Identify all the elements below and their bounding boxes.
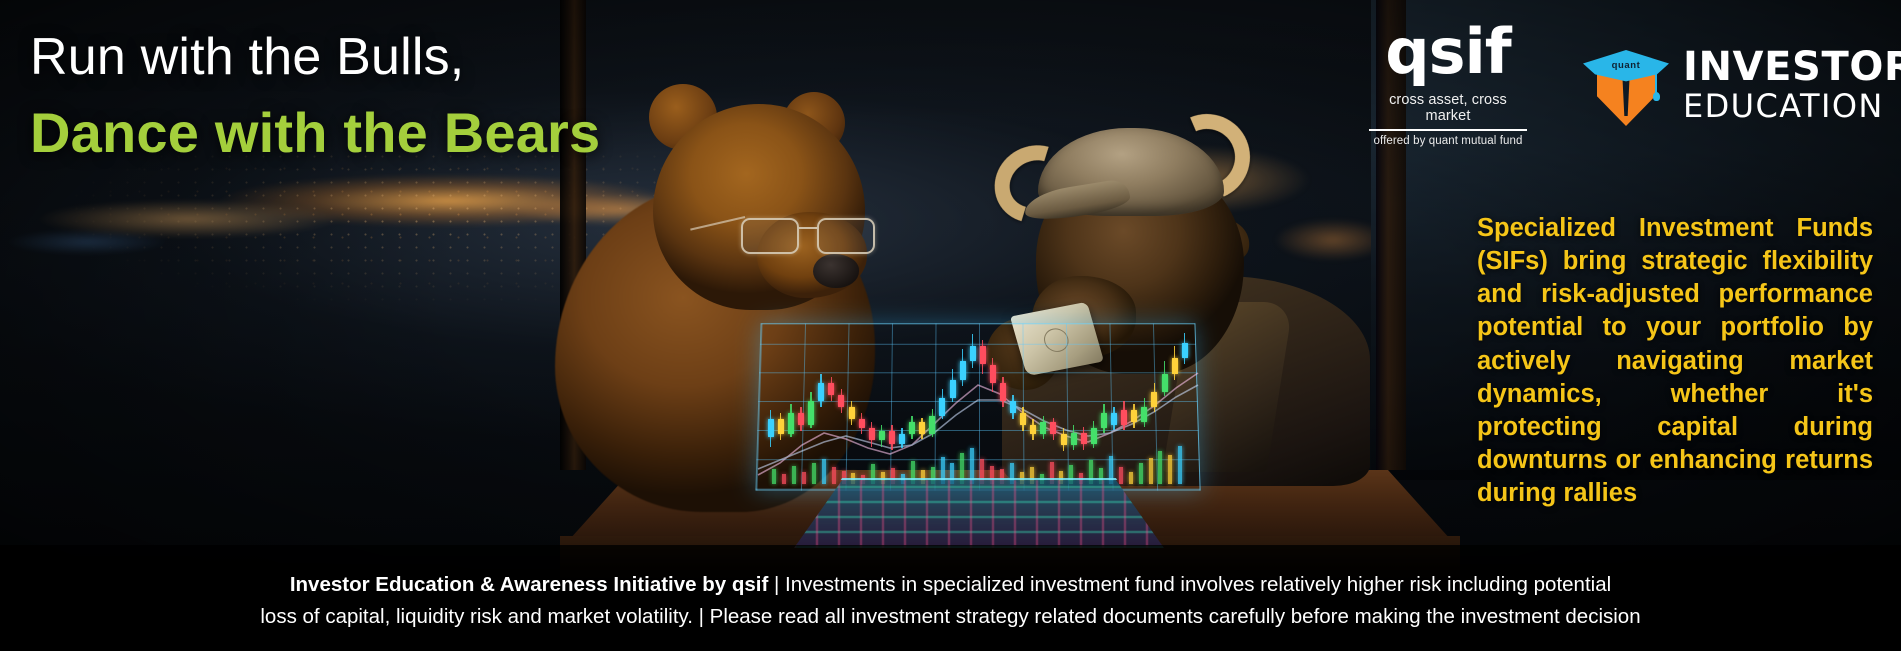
holographic-chart (748, 322, 1208, 542)
candle-body (919, 422, 925, 434)
chart-base-plate-edge (794, 478, 1164, 548)
candle-body (929, 416, 935, 434)
candle-body (939, 398, 945, 416)
candle-body (849, 407, 855, 419)
eyeglasses-bridge (799, 227, 817, 229)
investor-education-wordmark: INVESTOR EDUCATION (1683, 47, 1901, 122)
disclaimer-line-2: loss of capital, liquidity risk and mark… (260, 601, 1640, 633)
logo-zone: qsif cross asset, cross market offered b… (1355, 18, 1885, 150)
candle-body (970, 346, 976, 361)
volume-bar (822, 459, 826, 484)
qsif-divider-rule (1369, 129, 1527, 131)
candle-body (808, 401, 814, 425)
candle-body (1010, 401, 1016, 413)
candle-body (1020, 413, 1026, 425)
graduation-cap-pen-icon: quant (1583, 36, 1669, 132)
candle-body (909, 422, 915, 434)
volume-bar (1149, 458, 1153, 484)
eyeglasses-lens-left (741, 218, 799, 254)
candle-body (990, 365, 996, 383)
education-text: EDUCATION (1683, 90, 1901, 122)
candle-body (1000, 383, 1006, 401)
volume-bar (812, 463, 816, 484)
headline-line-bulls: Run with the Bulls, (30, 28, 600, 86)
candle-body (1151, 392, 1157, 407)
volume-bar (1168, 455, 1172, 484)
volume-bar (802, 472, 806, 484)
candle-body (869, 428, 875, 440)
candle-body (1101, 413, 1107, 428)
volume-bar (1158, 451, 1162, 484)
volume-bar (1129, 472, 1133, 484)
candle-body (980, 346, 986, 364)
candle-body (1121, 410, 1127, 425)
volume-bar (792, 466, 796, 484)
candle-body (960, 361, 966, 379)
qsif-offered-by: offered by quant mutual fund (1369, 135, 1527, 147)
candle-body (899, 434, 905, 443)
candle-body (798, 413, 804, 425)
candle-body (889, 431, 895, 443)
candle-body (1162, 374, 1168, 392)
disclaimer-line-1-rest: | Investments in specialized investment … (768, 573, 1611, 596)
candle-body (778, 419, 784, 434)
bear-nose (813, 254, 859, 288)
investor-text: INVESTOR (1683, 47, 1901, 87)
candle-body (1141, 407, 1147, 422)
sif-description-copy: Specialized Investment Funds (SIFs) brin… (1477, 212, 1873, 510)
investor-education-logo[interactable]: quant INVESTOR EDUCATION (1583, 36, 1901, 132)
qsif-tagline: cross asset, cross market (1369, 92, 1527, 124)
promotional-banner: Run with the Bulls, Dance with the Bears (0, 0, 1901, 651)
qsif-logo[interactable]: qsif cross asset, cross market offered b… (1369, 21, 1527, 147)
candle-body (768, 419, 774, 437)
eyeglasses-icon (741, 214, 901, 258)
candle-body (1182, 343, 1188, 358)
graduation-cap-tassel-icon (1655, 70, 1657, 94)
candle-body (859, 419, 865, 428)
candle-body (1050, 422, 1056, 434)
candle-body (788, 413, 794, 434)
volume-bar (782, 474, 786, 484)
candle-body (1172, 358, 1178, 373)
headline: Run with the Bulls, Dance with the Bears (30, 28, 600, 165)
candle-body (1081, 433, 1087, 444)
candle-body (828, 383, 834, 395)
disclaimer-bar: Investor Education & Awareness Initiativ… (0, 545, 1901, 651)
volume-bar (832, 467, 836, 484)
candle-body (818, 383, 824, 401)
headline-line-bears: Dance with the Bears (30, 102, 600, 165)
disclaimer-line-1: Investor Education & Awareness Initiativ… (290, 569, 1611, 601)
candle-body (879, 431, 885, 440)
eyeglasses-lens-right (817, 218, 875, 254)
volume-bar (772, 469, 776, 484)
candle-body (1131, 410, 1137, 422)
candle-body (950, 380, 956, 398)
candle-body (1111, 413, 1117, 425)
volume-bar (1178, 446, 1182, 484)
candle-body (1040, 422, 1046, 434)
candle-body (1030, 425, 1036, 434)
candle-body (838, 395, 844, 407)
qsif-wordmark: qsif (1369, 21, 1527, 83)
volume-bar (1139, 463, 1143, 484)
volume-bar (1119, 467, 1123, 484)
initiative-label: Investor Education & Awareness Initiativ… (290, 573, 768, 596)
candle-body (1091, 428, 1097, 443)
